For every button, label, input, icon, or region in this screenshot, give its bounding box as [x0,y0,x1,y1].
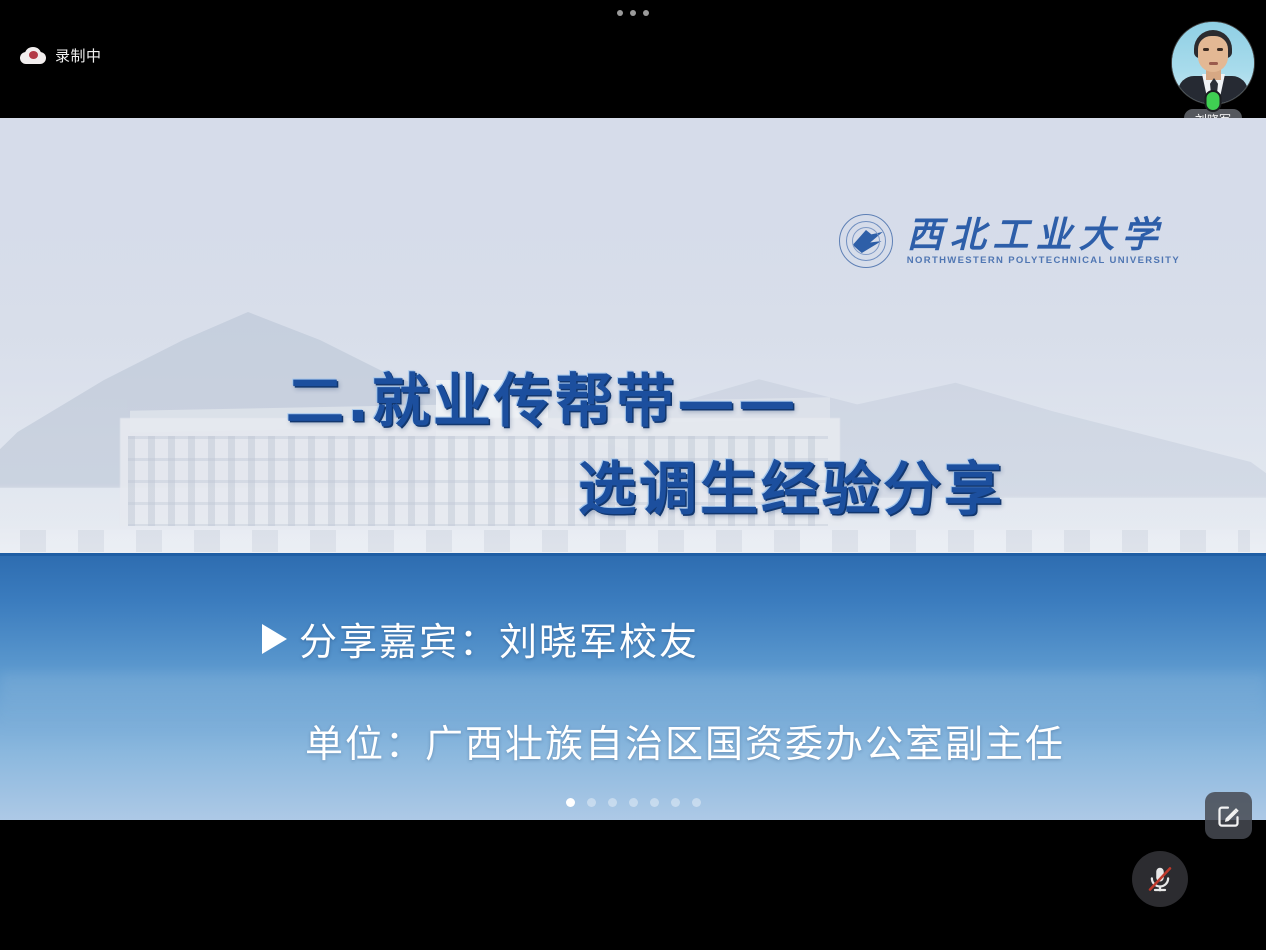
slide-pagination[interactable] [0,798,1266,807]
pagination-dot-7[interactable] [692,798,701,807]
mic-muted-icon [1145,864,1175,894]
dot-3 [643,10,649,16]
pagination-dot-1[interactable] [566,798,575,807]
university-logo: 西北工业大学 NORTHWESTERN POLYTECHNICAL UNIVER… [839,214,1180,268]
pagination-dot-3[interactable] [608,798,617,807]
unit-text: 单位：广西壮族自治区国资委办公室副主任 [305,713,1065,768]
slide-title-line-1: 二.就业传帮带—— [286,354,799,438]
university-emblem-icon [839,214,893,268]
annotate-button[interactable] [1205,792,1252,839]
guest-text: 分享嘉宾：刘晓军校友 [299,611,699,666]
pagination-dot-2[interactable] [587,798,596,807]
dot-2 [630,10,636,16]
mic-toggle-button[interactable] [1132,851,1188,907]
university-name-cn: 西北工业大学 [907,217,1180,253]
pagination-dot-5[interactable] [650,798,659,807]
mic-active-indicator [1205,90,1222,112]
pagination-dot-4[interactable] [629,798,638,807]
meeting-screen-share-window: 录制中 刘晓军 [0,0,1266,950]
recording-indicator[interactable]: 录制中 [20,42,102,68]
self-video-tile[interactable]: 刘晓军 [1170,22,1256,131]
university-name-en: NORTHWESTERN POLYTECHNICAL UNIVERSITY [907,255,1180,266]
recording-label: 录制中 [55,45,102,66]
slide-blue-panel [0,553,1266,820]
slide-title-line-2: 选调生经验分享 [578,442,1005,526]
shared-slide[interactable]: 西北工业大学 NORTHWESTERN POLYTECHNICAL UNIVER… [0,118,1266,820]
pencil-annotate-icon [1215,802,1242,829]
dot-1 [617,10,623,16]
pagination-dot-6[interactable] [671,798,680,807]
play-triangle-icon [262,624,287,654]
more-dots-icon[interactable] [0,6,1266,20]
guest-line: 分享嘉宾：刘晓军校友 [262,611,699,666]
recording-cloud-icon [20,47,46,64]
